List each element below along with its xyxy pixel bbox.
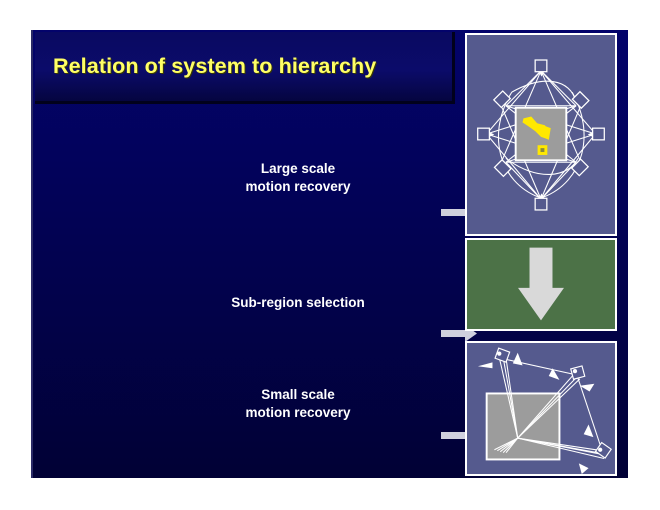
stage-label-small-scale: Small scale motion recovery (203, 386, 393, 422)
arrow-down-icon (467, 240, 615, 329)
stage-label-large-scale: Large scale motion recovery (203, 160, 393, 196)
sub-region-selection-arrow (465, 238, 617, 331)
slide-canvas: Relation of system to hierarchy Large sc… (0, 0, 660, 510)
small-baseline-illustration (467, 343, 615, 474)
camera-ring-illustration (467, 35, 615, 234)
title-banner: Relation of system to hierarchy (35, 32, 455, 104)
stage-label-sub-region: Sub-region selection (203, 294, 393, 312)
small-baseline-camera-diagram (465, 341, 617, 476)
slide: Relation of system to hierarchy Large sc… (31, 30, 628, 478)
page-title: Relation of system to hierarchy (53, 54, 453, 79)
wide-baseline-camera-network-diagram (465, 33, 617, 236)
